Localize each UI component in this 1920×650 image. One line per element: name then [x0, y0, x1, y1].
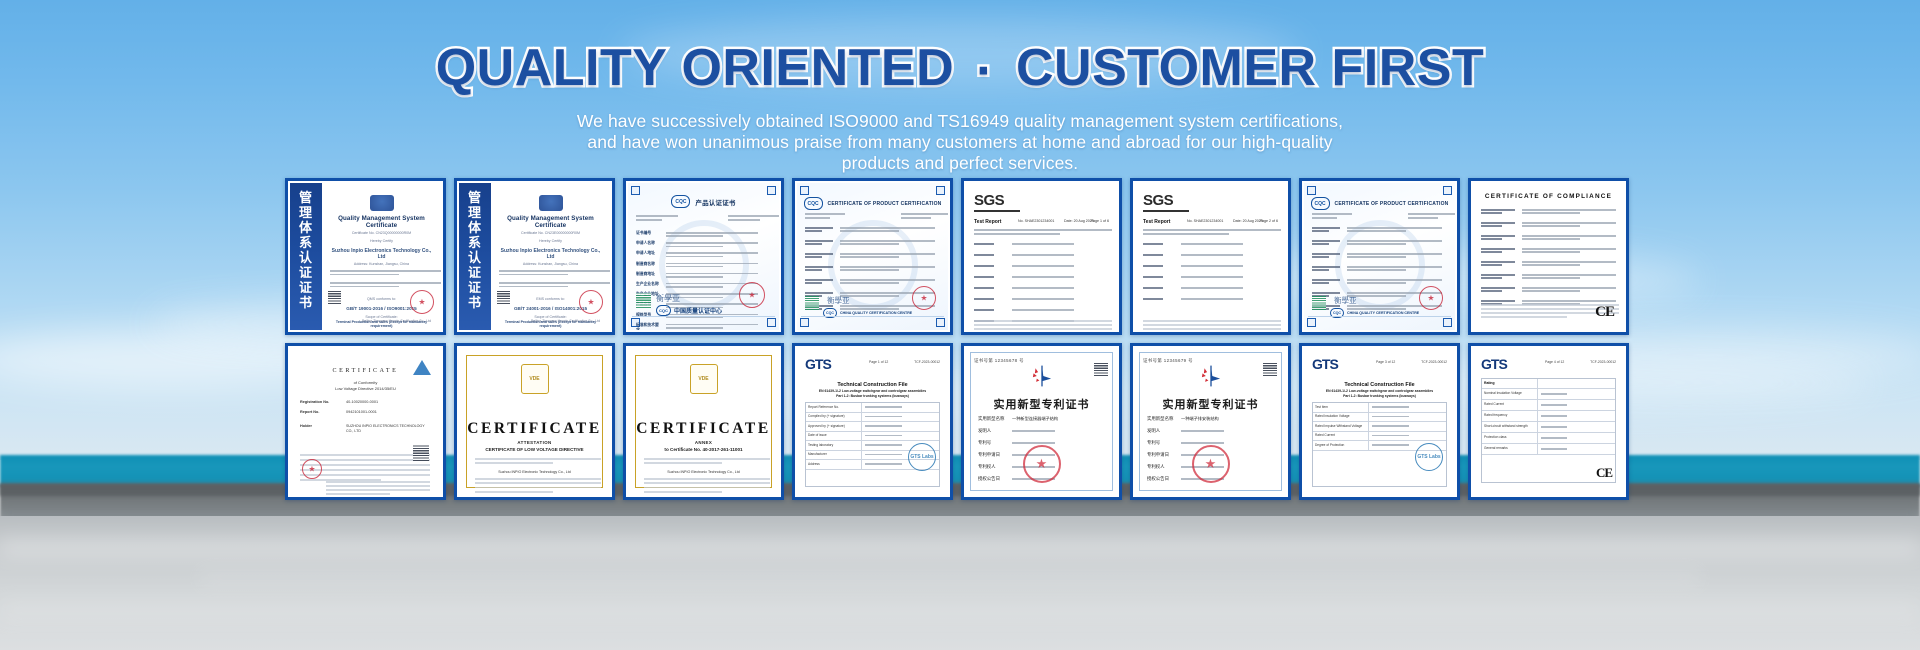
certificate-image: CQC CERTIFICATE OF PRODUCT CERTIFICATION…: [797, 183, 948, 330]
banner-heading: QUALITY ORIENTED·CUSTOMER FIRST We have …: [0, 0, 1920, 174]
field-label: 发明人: [1147, 428, 1177, 435]
gts-logo: GTS: [1481, 356, 1507, 372]
document-number: TCF-2023-00012: [1421, 360, 1447, 364]
certificate-title: CERTIFICATE OF PRODUCT CERTIFICATION: [828, 201, 942, 207]
certificate-thumbnail-vde-certificate-annex[interactable]: VDE CERTIFICATE ANNEX to Certificate No.…: [623, 343, 784, 500]
page-number: Page 1 of 12: [869, 360, 888, 364]
cqc-logo-icon: CQC: [656, 305, 671, 316]
table-cell-label: Rated Insulation Voltage: [1313, 413, 1369, 422]
certificate-title: 实用新型专利证书: [966, 396, 1117, 412]
ce-mark-icon: CE: [1596, 465, 1612, 481]
table-cell-label: Compiled by (+ signature): [806, 413, 862, 422]
sgs-logo: SGS: [974, 192, 1004, 209]
field-label: 专利申请日: [978, 452, 1008, 459]
gts-logo: GTS: [805, 356, 831, 372]
field-label: 申请人名称: [636, 241, 662, 248]
qr-code-icon: [1263, 362, 1277, 376]
report-date: Date: 20 Aug 2023: [1233, 219, 1263, 223]
field-label: 专利权人: [978, 464, 1008, 471]
certificate-image: 管理体系认证证书 Quality Management System Certi…: [290, 183, 441, 330]
field-label: 授权公告日: [1147, 476, 1177, 483]
qr-code-icon: [413, 445, 429, 461]
sgs-logo: SGS: [1143, 192, 1173, 209]
field-label: 制造商名称: [636, 262, 662, 269]
corner-mark-icon: [800, 186, 809, 195]
holder-name: Suzhou INPIO Electronic Technology Co., …: [475, 470, 594, 474]
field-value: 一种端子排安装结构: [1181, 416, 1274, 422]
signature-icon: 衡學亚: [1334, 295, 1357, 306]
quality-certificates-banner: QUALITY ORIENTED·CUSTOMER FIRST We have …: [0, 0, 1920, 650]
hereby-label: Hereby Certify: [330, 239, 433, 243]
certificate-body: Quality Management System Certificate Ce…: [493, 183, 608, 330]
footer-organization: CHINA QUALITY CERTIFICATION CENTRE: [840, 311, 912, 315]
certificate-word: CERTIFICATE: [628, 420, 779, 438]
document-subtitle-1: EN 61439-1/-2 Low-voltage switchgear and…: [1304, 389, 1455, 393]
official-seal-icon: [1192, 445, 1230, 483]
field-label: 生产企业名称: [636, 282, 662, 289]
banner-subtitle: We have successively obtained ISO9000 an…: [0, 101, 1920, 174]
field-label: 专利号: [978, 440, 1008, 447]
table-cell-label: Short-circuit withstand strength: [1482, 422, 1538, 432]
ground-highlight: [0, 540, 1920, 556]
hereby-label: Hereby Certify: [499, 239, 602, 243]
cqc-logo-icon: CQC: [671, 195, 690, 208]
field-label: Report No.: [300, 410, 340, 414]
table-cell-label: Date of issue: [806, 432, 862, 441]
certification-emblem-icon: [370, 195, 394, 211]
official-seal-icon: [1023, 445, 1061, 483]
certificate-thumbnail-ccc-product-certificate-en-2[interactable]: CQC CERTIFICATE OF PRODUCT CERTIFICATION…: [1299, 178, 1460, 335]
field-label: 制造商地址: [636, 272, 662, 279]
certificate-image: 管理体系认证证书 Quality Management System Certi…: [459, 183, 610, 330]
field-label: 实用新型名称: [978, 416, 1008, 423]
field-label: 专利申请日: [1147, 452, 1177, 459]
field-value: SUZHOU INPIO ELECTRONICS TECHNOLOGY CO.,…: [346, 424, 431, 433]
certificate-spine: 管理体系认证证书: [459, 183, 491, 330]
certification-emblem-icon: [539, 195, 563, 211]
table-cell-label: Rated frequency: [1482, 411, 1538, 421]
table-cell-label: Rated Impulse Withstand Voltage: [1313, 422, 1369, 431]
document-subtitle-2: Part 1-2: Busbar trunking systems (buswa…: [1304, 394, 1455, 398]
subtitle-line-2: and have won unanimous praise from many …: [0, 132, 1920, 153]
certificate-image: VDE CERTIFICATE ANNEX to Certificate No.…: [628, 348, 779, 495]
document-subtitle-2: Part 1-2: Busbar trunking systems (buswa…: [797, 394, 948, 398]
certificate-image: CERTIFICATE of Conformity Low Voltage Di…: [290, 348, 441, 495]
page-number: Page 2 of 6: [1260, 219, 1278, 223]
field-label: 授权公告日: [978, 476, 1008, 483]
issuer-name: Beijing Zhongren Huapin Certification Co…: [527, 319, 604, 323]
signature-icon: 衡學亚: [656, 293, 680, 304]
certificate-image: GTS Page 1 of 12 TCF-2023-00012 Technica…: [797, 348, 948, 495]
table-cell-label: Rating: [1482, 379, 1538, 388]
corner-mark-icon: [631, 186, 640, 195]
qr-code-icon: [1312, 296, 1326, 310]
certificate-thumbnail-sgs-test-report-1[interactable]: SGS Test Report No. SHAE2301234001 Date:…: [961, 178, 1122, 335]
document-title: Technical Construction File: [1304, 382, 1455, 388]
company-address: Address: Kunshan, Jiangsu, China: [499, 262, 602, 266]
field-label: Holder: [300, 424, 340, 433]
field-label: 实用新型名称: [1147, 416, 1177, 423]
spine-text-cn: 管理体系认证证书: [459, 191, 491, 311]
corner-mark-icon: [767, 186, 776, 195]
ground-highlight: [0, 600, 1920, 620]
document-title: Test Report: [1143, 219, 1170, 225]
certificate-line-1: ATTESTATION: [459, 440, 610, 445]
certificate-thumbnail-gts-technical-construction-file-2[interactable]: GTS Page 3 of 12 TCF-2023-00012 Technica…: [1299, 343, 1460, 500]
document-subtitle-1: EN 61439-1/-2 Low-voltage switchgear and…: [797, 389, 948, 393]
certificate-body: Quality Management System Certificate Ce…: [324, 183, 439, 330]
company-name: Suzhou Inpio Electronics Technology Co.,…: [499, 248, 602, 260]
certificate-title: 实用新型专利证书: [1135, 396, 1286, 412]
table-cell-label: Manufacturer: [806, 451, 862, 460]
vde-logo-icon: VDE: [690, 364, 718, 394]
report-number: No. SHAE2301234001: [1018, 219, 1054, 223]
document-number: TCF-2023-00012: [1590, 360, 1616, 364]
certificate-image: 证书号第 12345679 号 实用新型专利证书 实用新型名称一种端子排安装结构…: [1135, 348, 1286, 495]
subtitle-line-1: We have successively obtained ISO9000 an…: [0, 111, 1920, 132]
qr-code-icon: [328, 291, 341, 304]
title-separator: ·: [954, 41, 1016, 101]
company-name: Suzhou Inpio Electronics Technology Co.,…: [330, 248, 433, 260]
conformity-line-2: Low Voltage Directive 2014/35/EU: [290, 386, 441, 391]
ce-mark-icon: CE: [1595, 304, 1614, 321]
report-date: Date: 20 Aug 2023: [1064, 219, 1094, 223]
corner-mark-icon: [1307, 186, 1316, 195]
official-seal-icon: [912, 286, 936, 310]
footer-organization: CHINA QUALITY CERTIFICATION CENTRE: [1347, 311, 1419, 315]
table-cell-label: Nominal Insulation Voltage: [1482, 389, 1538, 399]
field-value: 一种新型连接器端子结构: [1012, 416, 1105, 422]
certificate-title: CERTIFICATE OF COMPLIANCE: [1473, 193, 1624, 200]
document-title: Test Report: [974, 219, 1001, 225]
official-seal-icon: [410, 290, 434, 314]
page-title: QUALITY ORIENTED·CUSTOMER FIRST: [0, 0, 1920, 101]
subtitle-line-3: products and perfect services.: [0, 153, 1920, 174]
page-number: Page 3 of 12: [1376, 360, 1395, 364]
table-cell-label: Approved by (+ signature): [806, 422, 862, 431]
corner-mark-icon: [936, 186, 945, 195]
field-label: 申请人地址: [636, 251, 662, 258]
footer-organization: 中国质量认证中心: [674, 306, 722, 315]
certificate-line-2: CERTIFICATE OF LOW VOLTAGE DIRECTIVE: [459, 447, 610, 452]
certificate-thumbnail-certificate-of-conformity[interactable]: CERTIFICATE of Conformity Low Voltage Di…: [285, 343, 446, 500]
official-seal-icon: [302, 459, 322, 479]
certificate-thumbnail-sgs-test-report-2[interactable]: SGS Test Report No. SHAE2301234001 Date:…: [1130, 178, 1291, 335]
qr-code-icon: [497, 291, 510, 304]
certificate-image: CERTIFICATE OF COMPLIANCE CE: [1473, 183, 1624, 330]
cqc-logo-icon: CQC: [804, 197, 823, 210]
certificate-word: CERTIFICATE: [459, 420, 610, 438]
field-label: 专利号: [1147, 440, 1177, 447]
certificate-image: SGS Test Report No. SHAE2301234001 Date:…: [1135, 183, 1286, 330]
certificate-thumbnail-ccc-product-certificate-cn[interactable]: CQC 产品认证证书 证书编号申请人名称申请人地址制造商名称制造商地址生产企业名…: [623, 178, 784, 335]
certificate-number: Certificate No. CN23E00000000R0M: [499, 231, 602, 235]
certificate-image: GTS Page 3 of 12 TCF-2023-00012 Technica…: [1304, 348, 1455, 495]
certificate-thumbnail-cn-patent-certificate-1[interactable]: 证书号第 12345678 号 实用新型专利证书 实用新型名称一种新型连接器端子…: [961, 343, 1122, 500]
field-label: 发明人: [978, 428, 1008, 435]
table-cell-label: Testing laboratory: [806, 441, 862, 450]
certificate-thumbnail-gts-test-report-summary[interactable]: GTS Page 4 of 12 TCF-2023-00012 Rating N…: [1468, 343, 1629, 500]
table-cell-label: Test Item: [1313, 403, 1369, 412]
field-label: 专利权人: [1147, 464, 1177, 471]
table-cell-label: Degree of Protection: [1313, 441, 1369, 450]
corner-mark-icon: [1443, 186, 1452, 195]
field-value: 40-10020000-0001: [346, 400, 378, 404]
certificate-thumbnail-certificate-of-compliance[interactable]: CERTIFICATE OF COMPLIANCE CE: [1468, 178, 1629, 335]
certificate-image: GTS Page 4 of 12 TCF-2023-00012 Rating N…: [1473, 348, 1624, 495]
certificate-image: SGS Test Report No. SHAE2301234001 Date:…: [966, 183, 1117, 330]
certificate-header: 证书号第 12345679 号: [1143, 358, 1193, 364]
certificate-image: VDE CERTIFICATE ATTESTATION CERTIFICATE …: [459, 348, 610, 495]
certificate-image: 证书号第 12345678 号 实用新型专利证书 实用新型名称一种新型连接器端子…: [966, 348, 1117, 495]
table-cell-label: Rated Current: [1482, 400, 1538, 410]
issuer-name: Beijing Zhongren Huapin Certification Co…: [358, 319, 435, 323]
table-cell-label: Report Reference No.: [806, 403, 862, 412]
official-seal-icon: [1419, 286, 1443, 310]
qr-code-icon: [805, 296, 819, 310]
title-part-2: CUSTOMER FIRST: [1016, 39, 1484, 97]
table-cell-label: Protection class: [1482, 433, 1538, 443]
certificate-number: Certificate No. CN23Q00000000R0M: [330, 231, 433, 235]
signature-icon: 衡學亚: [827, 295, 850, 306]
report-number: No. SHAE2301234001: [1187, 219, 1223, 223]
field-label: 证书编号: [636, 231, 662, 238]
table-cell-label: General remarks: [1482, 444, 1538, 454]
certificate-image: CQC 产品认证证书 证书编号申请人名称申请人地址制造商名称制造商地址生产企业名…: [628, 183, 779, 330]
certificate-title: 产品认证证书: [695, 197, 735, 207]
official-seal-icon: [739, 282, 765, 308]
page-number: Page 4 of 12: [1545, 360, 1564, 364]
spine-text-cn: 管理体系认证证书: [290, 191, 322, 311]
certificate-thumbnail-cn-patent-certificate-2[interactable]: 证书号第 12345679 号 实用新型专利证书 实用新型名称一种端子排安装结构…: [1130, 343, 1291, 500]
field-label: Registration No.: [300, 400, 340, 404]
certificate-thumbnail-ccc-product-certificate-en-1[interactable]: CQC CERTIFICATE OF PRODUCT CERTIFICATION…: [792, 178, 953, 335]
gts-stamp-icon: GTS Labs: [908, 443, 936, 471]
cqc-logo-icon: CQC: [1311, 197, 1330, 210]
certification-body-logo-icon: [413, 360, 431, 375]
official-seal-icon: [579, 290, 603, 314]
holder-name: Suzhou INPIO Electronic Technology Co., …: [644, 470, 763, 474]
certificate-thumbnail-vde-certificate-lvd[interactable]: VDE CERTIFICATE ATTESTATION CERTIFICATE …: [454, 343, 615, 500]
conformity-line-1: of Conformity: [290, 380, 441, 385]
qr-code-icon: [1094, 362, 1108, 376]
certificate-gallery: 管理体系认证证书 Quality Management System Certi…: [285, 178, 1635, 500]
ground-highlight: [200, 572, 1700, 584]
table-cell-label: Rated Current: [1313, 432, 1369, 441]
company-address: Address: Kunshan, Jiangsu, China: [330, 262, 433, 266]
field-value: 0942101001-0001: [346, 410, 377, 414]
certificate-header: 证书号第 12345678 号: [974, 358, 1024, 364]
patent-office-logo-icon: [1029, 364, 1055, 388]
certificate-title: Quality Management System Certificate: [499, 215, 602, 229]
certificate-thumbnail-qms-certificate-2[interactable]: 管理体系认证证书 Quality Management System Certi…: [454, 178, 615, 335]
certificate-line-2: to Certificate No. 40-2017-261-11001: [628, 447, 779, 452]
gts-logo: GTS: [1312, 356, 1338, 372]
certificate-line-1: ANNEX: [628, 440, 779, 445]
title-part-1: QUALITY ORIENTED: [436, 39, 954, 97]
certificate-spine: 管理体系认证证书: [290, 183, 322, 330]
gts-stamp-icon: GTS Labs: [1415, 443, 1443, 471]
certificate-thumbnail-qms-certificate-1[interactable]: 管理体系认证证书 Quality Management System Certi…: [285, 178, 446, 335]
certificate-title: CERTIFICATE OF PRODUCT CERTIFICATION: [1335, 201, 1449, 207]
qr-code-icon: [636, 293, 651, 308]
certificate-image: CQC CERTIFICATE OF PRODUCT CERTIFICATION…: [1304, 183, 1455, 330]
patent-office-logo-icon: [1198, 364, 1224, 388]
table-cell-label: Address: [806, 460, 862, 469]
vde-logo-icon: VDE: [521, 364, 549, 394]
document-title: Technical Construction File: [797, 382, 948, 388]
document-number: TCF-2023-00012: [914, 360, 940, 364]
page-number: Page 1 of 6: [1091, 219, 1109, 223]
certificate-title: Quality Management System Certificate: [330, 215, 433, 229]
certificate-thumbnail-gts-technical-construction-file-1[interactable]: GTS Page 1 of 12 TCF-2023-00012 Technica…: [792, 343, 953, 500]
